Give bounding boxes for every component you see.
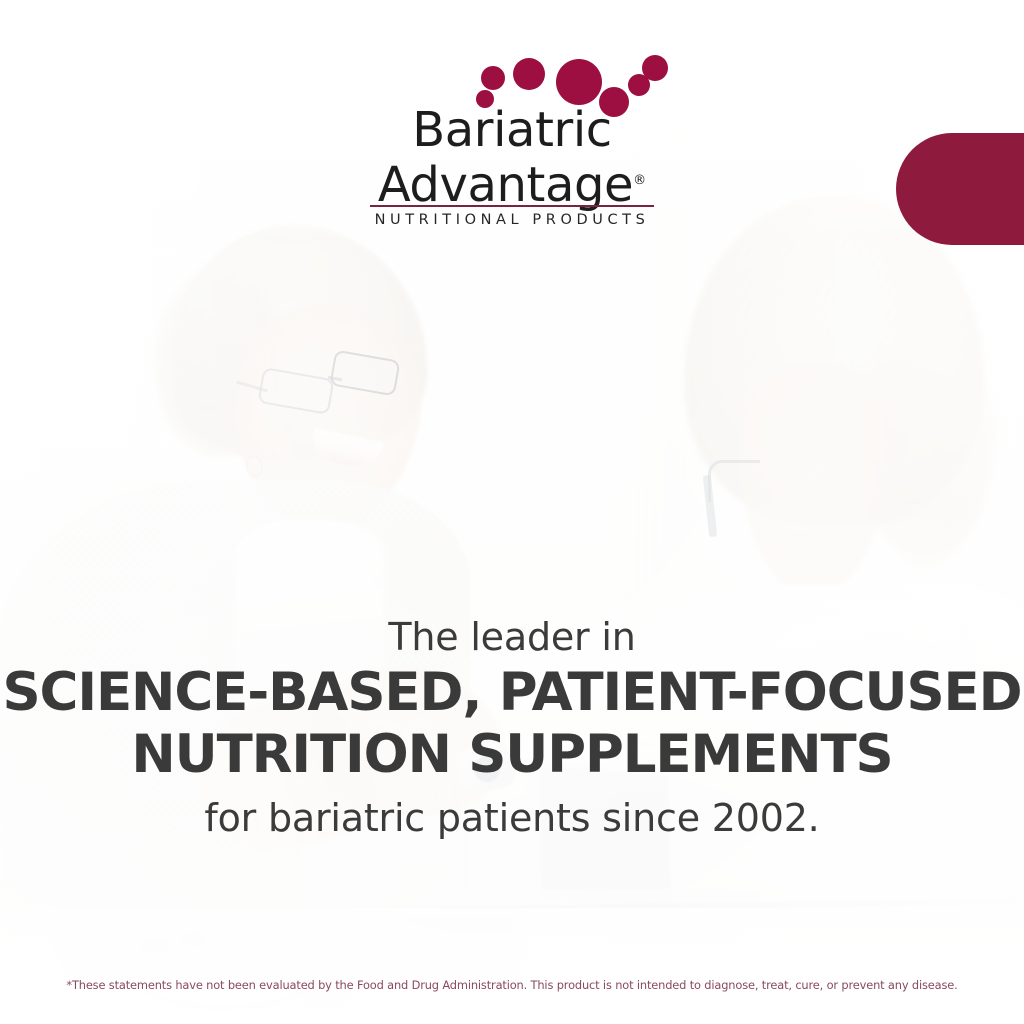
logo-wordmark: Bariatric Advantage® (362, 104, 662, 210)
logo-dot-3 (513, 58, 545, 90)
headline-line-1: SCIENCE-BASED, PATIENT-FOCUSED (0, 662, 1024, 724)
fda-disclaimer: *These statements have not been evaluate… (0, 978, 1024, 992)
headline-block: The leader in SCIENCE-BASED, PATIENT-FOC… (0, 612, 1024, 846)
logo-underline-rule (370, 205, 654, 207)
brand-banner: Bariatric Advantage® NUTRITIONAL PRODUCT… (0, 0, 1024, 1024)
logo-tagline: NUTRITIONAL PRODUCTS (362, 212, 662, 228)
registered-trademark-icon: ® (633, 173, 646, 188)
logo-dot-4 (556, 59, 602, 105)
logo-word-advantage: Advantage® (362, 156, 662, 210)
headline-line-2: NUTRITION SUPPLEMENTS (0, 724, 1024, 786)
logo-word-bariatric: Bariatric (362, 104, 662, 156)
bariatric-advantage-logo: Bariatric Advantage® NUTRITIONAL PRODUCT… (362, 66, 662, 238)
headline-subline: for bariatric patients since 2002. (0, 790, 1024, 846)
burgundy-pill-accent (896, 133, 1024, 245)
logo-dot-2 (481, 66, 505, 90)
headline-eyebrow: The leader in (0, 612, 1024, 662)
logo-dot-7 (642, 55, 668, 81)
